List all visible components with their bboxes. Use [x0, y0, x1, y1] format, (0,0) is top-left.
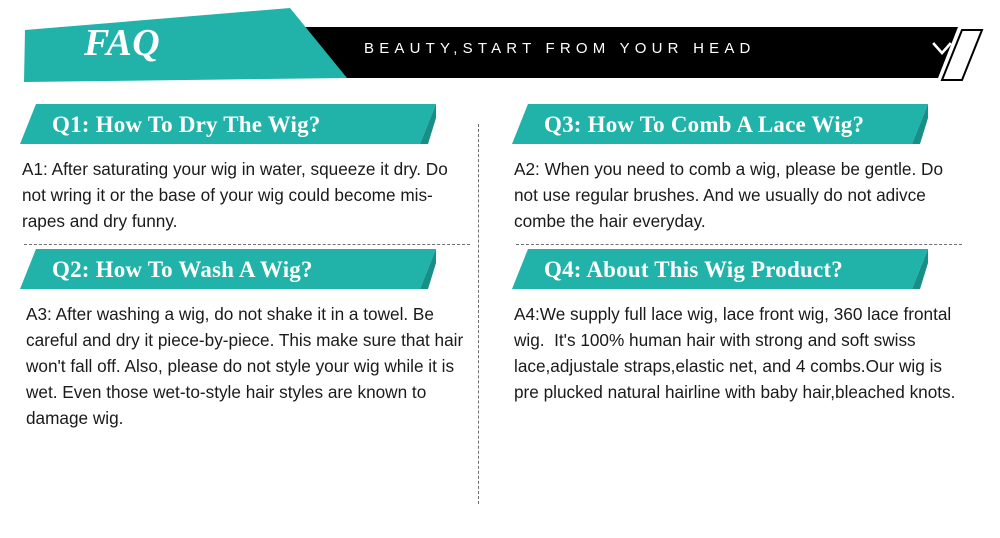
page-title: FAQ	[84, 24, 160, 62]
question-text: Q4: About This Wig Product?	[544, 256, 843, 284]
question-banner[interactable]: Q4: About This Wig Product?	[508, 249, 970, 291]
question-text: Q3: How To Comb A Lace Wig?	[544, 111, 864, 139]
question-text: Q2: How To Wash A Wig?	[52, 256, 313, 284]
faq-item: Q2: How To Wash A Wig? A3: After washing…	[16, 249, 478, 431]
answer-divider	[516, 244, 962, 245]
faq-column-left: Q1: How To Dry The Wig? A1: After satura…	[16, 104, 478, 538]
header-tagline: BEAUTY,START FROM YOUR HEAD	[364, 40, 756, 57]
faq-item: Q4: About This Wig Product? A4:We supply…	[508, 249, 970, 405]
answer-divider	[24, 244, 470, 245]
answer-text: A3: After washing a wig, do not shake it…	[16, 297, 478, 431]
answer-text: A4:We supply full lace wig, lace front w…	[508, 297, 970, 405]
faq-header-banner: FAQ BEAUTY,START FROM YOUR HEAD	[0, 0, 1000, 100]
answer-text: A2: When you need to comb a wig, please …	[508, 152, 970, 234]
faq-column-right: Q3: How To Comb A Lace Wig? A2: When you…	[508, 104, 970, 538]
answer-text: A1: After saturating your wig in water, …	[16, 152, 478, 234]
header-teal-shape	[24, 8, 347, 82]
chevron-down-icon[interactable]	[930, 40, 954, 58]
faq-item: Q1: How To Dry The Wig? A1: After satura…	[16, 104, 478, 245]
question-banner[interactable]: Q2: How To Wash A Wig?	[16, 249, 478, 291]
faq-content-grid: Q1: How To Dry The Wig? A1: After satura…	[0, 104, 1000, 538]
question-banner[interactable]: Q1: How To Dry The Wig?	[16, 104, 478, 146]
question-text: Q1: How To Dry The Wig?	[52, 111, 321, 139]
column-divider	[478, 124, 479, 504]
faq-item: Q3: How To Comb A Lace Wig? A2: When you…	[508, 104, 970, 245]
question-banner[interactable]: Q3: How To Comb A Lace Wig?	[508, 104, 970, 146]
